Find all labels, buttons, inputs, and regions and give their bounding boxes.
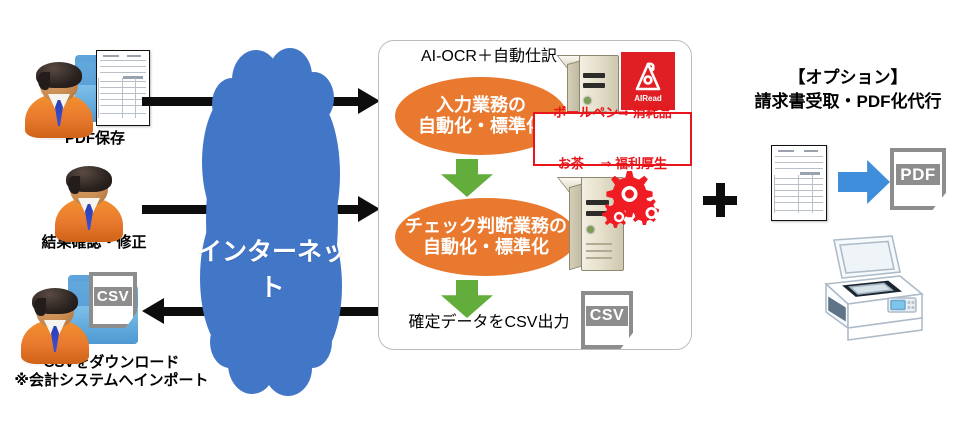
actor-csv-download: CSV CSVをダウンロード ※会計システムへインポート — [4, 272, 219, 392]
connector-arrow-1-icon — [441, 159, 493, 197]
avatar — [22, 64, 96, 138]
annotation-box: ボールペン⇒ 消耗品 お茶 ⇒ 福利厚生 — [533, 112, 692, 166]
avatar — [18, 290, 92, 364]
csv-file-icon-label: CSV — [586, 306, 628, 326]
annotation-line-2: お茶 ⇒ 福利厚生 — [553, 156, 672, 173]
cloud-icon: インターネット — [196, 42, 348, 398]
pdf-file-icon: PDF — [890, 148, 946, 210]
panel-output-label: 確定データをCSV出力 — [389, 313, 589, 333]
csv-file-icon-label: CSV — [94, 287, 132, 306]
blue-right-arrow-icon — [838, 160, 890, 204]
plus-symbol — [703, 183, 737, 217]
csv-file-icon: CSV — [89, 272, 137, 328]
csv-file-icon: CSV — [581, 291, 633, 349]
option-title: 【オプション】 請求書受取・PDF化代行 — [740, 68, 956, 128]
pdf-file-icon-label: PDF — [896, 164, 941, 185]
diagram-canvas: PDF保存 結果確認・修正 CSV CSVをダウ — [0, 0, 960, 440]
option-title-line2: 請求書受取・PDF化代行 — [740, 92, 956, 113]
flatbed-scanner-icon — [796, 232, 936, 342]
step-check-automation: チェック判断業務の 自動化・標準化 — [395, 198, 577, 276]
invoice-document-icon — [771, 145, 827, 221]
annotation-line-1: ボールペン⇒ 消耗品 — [553, 105, 672, 122]
option-title-line1: 【オプション】 — [740, 68, 956, 89]
avatar — [52, 168, 126, 242]
cloud-label: インターネット — [196, 232, 348, 304]
